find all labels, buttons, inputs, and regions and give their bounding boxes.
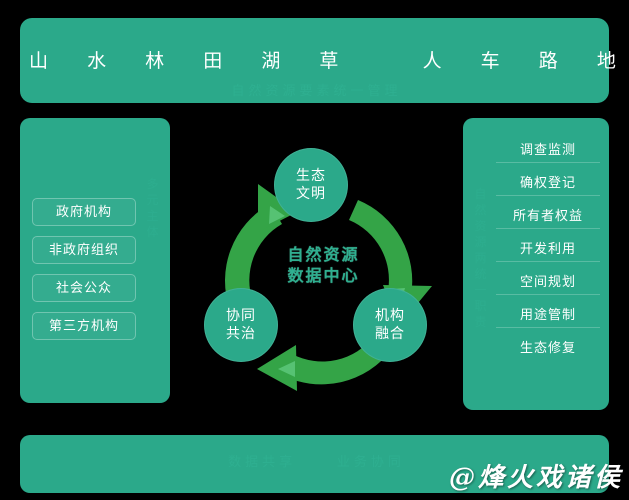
list-item[interactable]: 非政府组织 [32,236,136,264]
list-item[interactable]: 空间规划 [496,270,600,295]
list-item[interactable]: 政府机构 [32,198,136,226]
top-banner-subtitle: 自然资源要素统一管理 [20,80,609,99]
cycle-center-line1: 自然资源 [246,244,401,265]
cycle-node-label-line2: 文明 [296,185,326,203]
cycle-node-institutional-integration[interactable]: 机构 融合 [353,288,427,362]
list-item[interactable]: 第三方机构 [32,312,136,340]
cycle-diagram: 生态 文明 机构 融合 协同 共治 自然资源 数据中心 [196,136,451,398]
top-banner: 山 水 林 田 湖 草 人 车 路 地 房 自然资源要素统一管理 [20,18,609,103]
left-panel: 多元主体 政府机构 非政府组织 社会公众 第三方机构 [20,118,170,403]
top-banner-title: 山 水 林 田 湖 草 人 车 路 地 房 [20,46,609,73]
list-item[interactable]: 用途管制 [496,303,600,328]
list-item[interactable]: 开发利用 [496,237,600,262]
cycle-node-label-line1: 机构 [375,307,405,325]
cycle-node-ecological-civilization[interactable]: 生态 文明 [274,148,348,222]
watermark: @烽火戏诸侯 [449,457,623,494]
left-panel-caption: 多元主体 [145,176,161,240]
cycle-node-label-line2: 融合 [375,325,405,343]
list-item[interactable]: 调查监测 [496,138,600,163]
list-item[interactable]: 所有者权益 [496,204,600,229]
right-panel-list: 调查监测 确权登记 所有者权益 开发利用 空间规划 用途管制 生态修复 [496,138,600,369]
cycle-center-line2: 数据中心 [246,265,401,286]
cycle-node-collaborative-governance[interactable]: 协同 共治 [204,288,278,362]
right-panel-caption: 自然资源两统一职责 [473,186,489,330]
cycle-node-label-line2: 共治 [226,325,256,343]
cycle-center-label: 自然资源 数据中心 [246,244,401,286]
cycle-node-label-line1: 协同 [226,307,256,325]
cycle-node-label-line1: 生态 [296,167,326,185]
left-panel-list: 政府机构 非政府组织 社会公众 第三方机构 [32,198,136,350]
list-item[interactable]: 社会公众 [32,274,136,302]
right-panel: 自然资源两统一职责 调查监测 确权登记 所有者权益 开发利用 空间规划 用途管制… [463,118,609,410]
list-item[interactable]: 生态修复 [496,336,600,361]
list-item[interactable]: 确权登记 [496,171,600,196]
